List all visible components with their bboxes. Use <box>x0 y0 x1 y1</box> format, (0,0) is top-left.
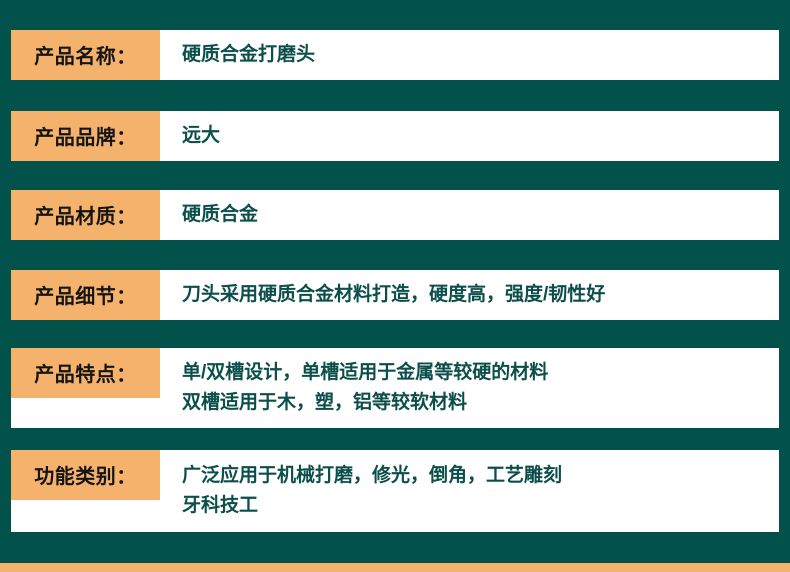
spec-value-line: 硬质合金 <box>182 200 769 230</box>
spec-value-line: 单/双槽设计，单槽适用于金属等较硬的材料 <box>182 358 769 388</box>
spec-label-product-brand: 产品品牌： <box>11 111 160 161</box>
spec-value-product-material: 硬质合金 <box>160 190 779 240</box>
spec-label-product-features: 产品特点： <box>11 348 160 398</box>
product-spec-sheet: 产品名称： 硬质合金打磨头 产品品牌： 远大 产品材质： 硬质合金 产品细节： … <box>0 0 790 572</box>
bottom-accent-strip <box>0 563 790 572</box>
spec-row-product-features: 产品特点： 单/双槽设计，单槽适用于金属等较硬的材料 双槽适用于木，塑，铝等较软… <box>11 348 779 428</box>
spec-value-line: 牙科技工 <box>182 491 769 521</box>
spec-row-product-name: 产品名称： 硬质合金打磨头 <box>11 30 779 80</box>
spec-value-line: 硬质合金打磨头 <box>182 40 769 70</box>
spec-value-line: 广泛应用于机械打磨，修光，倒角，工艺雕刻 <box>182 461 769 491</box>
spec-label-function-category: 功能类别： <box>11 450 160 500</box>
spec-value-product-detail: 刀头采用硬质合金材料打造，硬度高，强度/韧性好 <box>160 270 779 320</box>
spec-value-line: 远大 <box>182 121 769 151</box>
spec-value-function-category: 广泛应用于机械打磨，修光，倒角，工艺雕刻 牙科技工 <box>160 450 779 532</box>
spec-row-product-detail: 产品细节： 刀头采用硬质合金材料打造，硬度高，强度/韧性好 <box>11 270 779 320</box>
spec-value-line: 刀头采用硬质合金材料打造，硬度高，强度/韧性好 <box>182 280 769 310</box>
spec-value-product-brand: 远大 <box>160 111 779 161</box>
spec-row-function-category: 功能类别： 广泛应用于机械打磨，修光，倒角，工艺雕刻 牙科技工 <box>11 450 779 532</box>
spec-label-product-material: 产品材质： <box>11 190 160 240</box>
spec-row-product-material: 产品材质： 硬质合金 <box>11 190 779 240</box>
spec-value-product-features: 单/双槽设计，单槽适用于金属等较硬的材料 双槽适用于木，塑，铝等较软材料 <box>160 348 779 428</box>
spec-row-product-brand: 产品品牌： 远大 <box>11 111 779 161</box>
spec-label-product-name: 产品名称： <box>11 30 160 80</box>
spec-value-product-name: 硬质合金打磨头 <box>160 30 779 80</box>
spec-value-line: 双槽适用于木，塑，铝等较软材料 <box>182 388 769 418</box>
spec-label-product-detail: 产品细节： <box>11 270 160 320</box>
